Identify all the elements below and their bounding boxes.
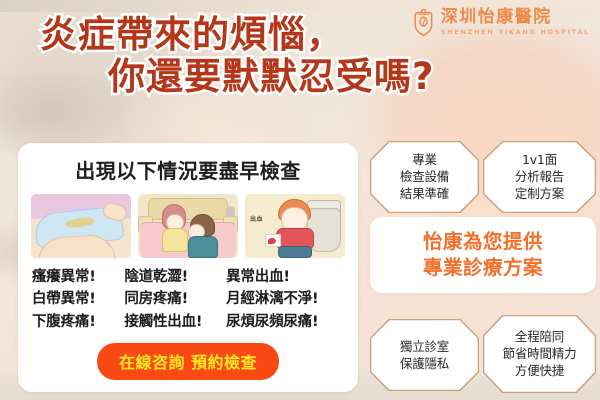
consult-appointment-button[interactable]: 在線咨詢 預約檢查 <box>97 343 279 380</box>
feature-box-full-escort-service[interactable]: 全程陪同 節省時間精力 方便快捷 <box>483 315 596 393</box>
card-title: 出現以下情況要盡早檢查 <box>30 155 346 184</box>
feature-boxes: 專業 檢查設備 結果準確 1v1面 分析報告 定制方案 怡康為您提供 專業診療方… <box>370 141 596 393</box>
feature-line: 保護隱私 <box>400 355 449 372</box>
symptom-item: 瘙癢異常! <box>32 267 124 287</box>
headline: 炎症帶來的煩惱， 你還要默默忍受嗎? <box>0 14 600 98</box>
promo-card: 怡康為您提供 專業診療方案 <box>370 217 596 293</box>
symptom-item: 下腹疼痛! <box>32 312 124 332</box>
feature-line: 結果準確 <box>400 185 449 202</box>
headline-line-2: 你還要默默忍受嗎? <box>108 56 600 97</box>
headline-line-1: 炎症帶來的煩惱， <box>40 14 600 55</box>
feature-line: 1v1面 <box>522 151 557 168</box>
feature-line: 專業 <box>412 151 437 168</box>
feature-line: 節省時間精力 <box>503 345 577 362</box>
feature-line: 分析報告 <box>515 168 564 185</box>
promo-line-1: 怡康為您提供 <box>423 229 543 255</box>
illustration-panels: 出血 <box>30 194 346 258</box>
symptom-item: 陰道乾澀! <box>124 267 226 287</box>
symptom-column-3: 異常出血! 月經淋漓不淨! 尿煩尿頻尿痛! <box>226 267 344 332</box>
symptom-item: 尿煩尿頻尿痛! <box>226 312 344 332</box>
feature-line: 定制方案 <box>515 185 564 202</box>
feature-line: 獨立診室 <box>400 338 449 355</box>
symptom-item: 同房疼痛! <box>124 289 226 309</box>
panel-caption: 出血 <box>250 214 263 223</box>
symptom-item: 月經淋漓不淨! <box>226 289 344 309</box>
underwear-discharge-illustration <box>31 194 131 258</box>
symptom-list: 瘙癢異常! 白帶異常! 下腹疼痛! 陰道乾澀! 同房疼痛! 接觸性出血! 異常出… <box>30 267 346 332</box>
symptom-item: 接觸性出血! <box>124 312 226 332</box>
symptom-item: 異常出血! <box>226 267 344 287</box>
feature-box-private-room[interactable]: 獨立診室 保護隱私 <box>370 319 479 391</box>
feature-box-professional-equipment[interactable]: 專業 檢查設備 結果準確 <box>370 141 479 213</box>
feature-line: 全程陪同 <box>515 328 564 345</box>
cta-row: 在線咨詢 預約檢查 <box>30 343 346 380</box>
symptom-card: 出現以下情況要盡早檢查 出血 瘙癢異常! <box>18 143 358 392</box>
couple-in-bed-illustration <box>138 194 238 258</box>
advertisement-banner: 深圳怡康醫院 SHENZHEN YIKANG HOSPITAL 炎症帶來的煩惱，… <box>0 0 600 400</box>
symptom-item: 白帶異常! <box>32 289 124 309</box>
toilet-bleeding-illustration: 出血 <box>245 194 345 258</box>
feature-line: 檢查設備 <box>400 168 449 185</box>
feature-box-one-on-one-report[interactable]: 1v1面 分析報告 定制方案 <box>483 141 596 213</box>
symptom-column-2: 陰道乾澀! 同房疼痛! 接觸性出血! <box>124 267 226 332</box>
symptom-column-1: 瘙癢異常! 白帶異常! 下腹疼痛! <box>32 267 124 332</box>
feature-line: 方便快捷 <box>515 362 564 379</box>
promo-line-2: 專業診療方案 <box>423 255 543 281</box>
